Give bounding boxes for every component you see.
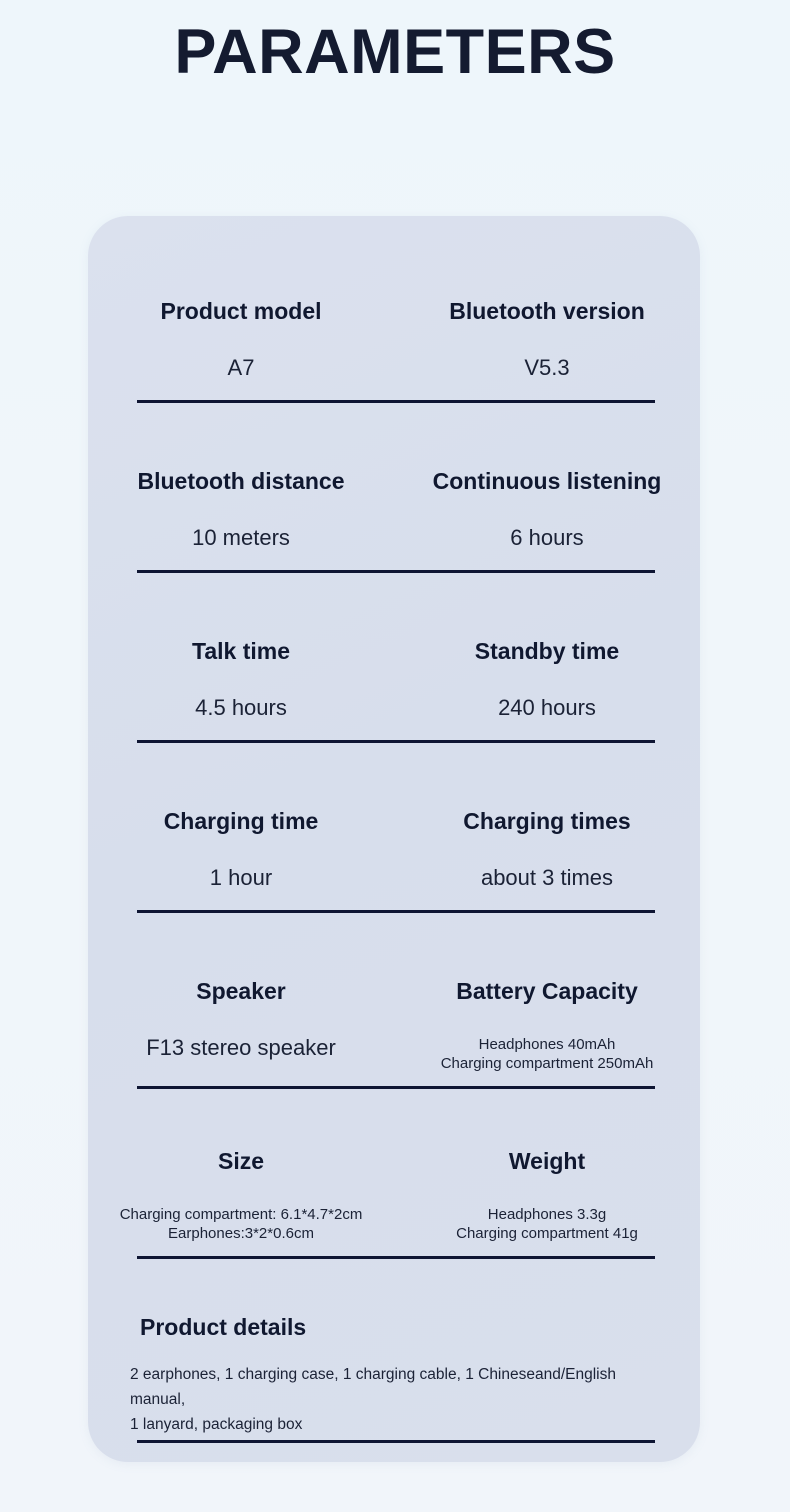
- spec-row-bluetooth-distance: Bluetooth distance 10 meters Continuous …: [88, 466, 700, 553]
- spec-value-continuous-listening: 6 hours: [394, 523, 700, 553]
- spec-cell-charging-times: Charging times about 3 times: [394, 806, 700, 893]
- spec-value-battery-capacity-line-1: Headphones 40mAh: [394, 1035, 700, 1054]
- spec-label-bluetooth-version: Bluetooth version: [394, 296, 700, 326]
- spec-value-weight: Headphones 3.3g Charging compartment 41g: [394, 1205, 700, 1243]
- spec-label-charging-time: Charging time: [88, 806, 394, 836]
- spec-value-size-line-1: Charging compartment: 6.1*4.7*2cm: [88, 1205, 394, 1224]
- spec-row-speaker: Speaker F13 stereo speaker Battery Capac…: [88, 976, 700, 1073]
- spec-value-talk-time: 4.5 hours: [88, 693, 394, 723]
- spec-value-charging-time: 1 hour: [88, 863, 394, 893]
- spec-value-charging-times: about 3 times: [394, 863, 700, 893]
- product-parameters-card: Product model A7 Bluetooth version V5.3 …: [88, 216, 700, 1462]
- spec-label-size: Size: [88, 1146, 394, 1176]
- spec-cell-standby-time: Standby time 240 hours: [394, 636, 700, 723]
- spec-row-charging-time: Charging time 1 hour Charging times abou…: [88, 806, 700, 893]
- product-details-title: Product details: [140, 1312, 700, 1342]
- spec-value-size-line-2: Earphones:3*2*0.6cm: [88, 1224, 394, 1243]
- product-details-section: Product details 2 earphones, 1 charging …: [88, 1312, 700, 1437]
- spec-row-divider: [137, 910, 655, 913]
- spec-row-divider: [137, 1256, 655, 1259]
- spec-label-talk-time: Talk time: [88, 636, 394, 666]
- spec-row-divider: [137, 740, 655, 743]
- spec-value-speaker: F13 stereo speaker: [88, 1033, 394, 1063]
- product-details-text: 2 earphones, 1 charging case, 1 charging…: [130, 1362, 675, 1437]
- spec-value-bluetooth-version: V5.3: [394, 353, 700, 383]
- product-details-divider: [137, 1440, 655, 1443]
- spec-cell-product-model: Product model A7: [88, 296, 394, 383]
- spec-cell-talk-time: Talk time 4.5 hours: [88, 636, 394, 723]
- spec-label-product-model: Product model: [88, 296, 394, 326]
- spec-cell-size: Size Charging compartment: 6.1*4.7*2cm E…: [88, 1146, 394, 1243]
- spec-value-size: Charging compartment: 6.1*4.7*2cm Earpho…: [88, 1205, 394, 1243]
- spec-cell-bluetooth-distance: Bluetooth distance 10 meters: [88, 466, 394, 553]
- page-title-line-1: PRODUCT: [0, 0, 790, 14]
- spec-label-charging-times: Charging times: [394, 806, 700, 836]
- spec-value-battery-capacity-line-2: Charging compartment 250mAh: [394, 1054, 700, 1073]
- spec-value-product-model: A7: [88, 353, 394, 383]
- spec-cell-continuous-listening: Continuous listening 6 hours: [394, 466, 700, 553]
- page-title-line-2: PARAMETERS: [0, 14, 790, 90]
- spec-label-battery-capacity: Battery Capacity: [394, 976, 700, 1006]
- spec-row-size: Size Charging compartment: 6.1*4.7*2cm E…: [88, 1146, 700, 1243]
- page-title: PRODUCT PARAMETERS: [0, 0, 790, 90]
- spec-cell-bluetooth-version: Bluetooth version V5.3: [394, 296, 700, 383]
- spec-row-divider: [137, 570, 655, 573]
- spec-value-bluetooth-distance: 10 meters: [88, 523, 394, 553]
- spec-label-bluetooth-distance: Bluetooth distance: [88, 466, 394, 496]
- spec-row-talk-time: Talk time 4.5 hours Standby time 240 hou…: [88, 636, 700, 723]
- spec-value-weight-line-1: Headphones 3.3g: [394, 1205, 700, 1224]
- spec-value-battery-capacity: Headphones 40mAh Charging compartment 25…: [394, 1035, 700, 1073]
- spec-row-divider: [137, 1086, 655, 1089]
- spec-value-standby-time: 240 hours: [394, 693, 700, 723]
- spec-label-continuous-listening: Continuous listening: [394, 466, 700, 496]
- spec-label-standby-time: Standby time: [394, 636, 700, 666]
- product-details-line-2: 1 lanyard, packaging box: [130, 1412, 675, 1437]
- spec-cell-charging-time: Charging time 1 hour: [88, 806, 394, 893]
- spec-label-speaker: Speaker: [88, 976, 394, 1006]
- spec-row-divider: [137, 400, 655, 403]
- spec-row-product-model: Product model A7 Bluetooth version V5.3: [88, 296, 700, 383]
- spec-cell-weight: Weight Headphones 3.3g Charging compartm…: [394, 1146, 700, 1243]
- product-details-line-1: 2 earphones, 1 charging case, 1 charging…: [130, 1362, 675, 1412]
- spec-cell-speaker: Speaker F13 stereo speaker: [88, 976, 394, 1073]
- spec-value-weight-line-2: Charging compartment 41g: [394, 1224, 700, 1243]
- spec-label-weight: Weight: [394, 1146, 700, 1176]
- spec-cell-battery-capacity: Battery Capacity Headphones 40mAh Chargi…: [394, 976, 700, 1073]
